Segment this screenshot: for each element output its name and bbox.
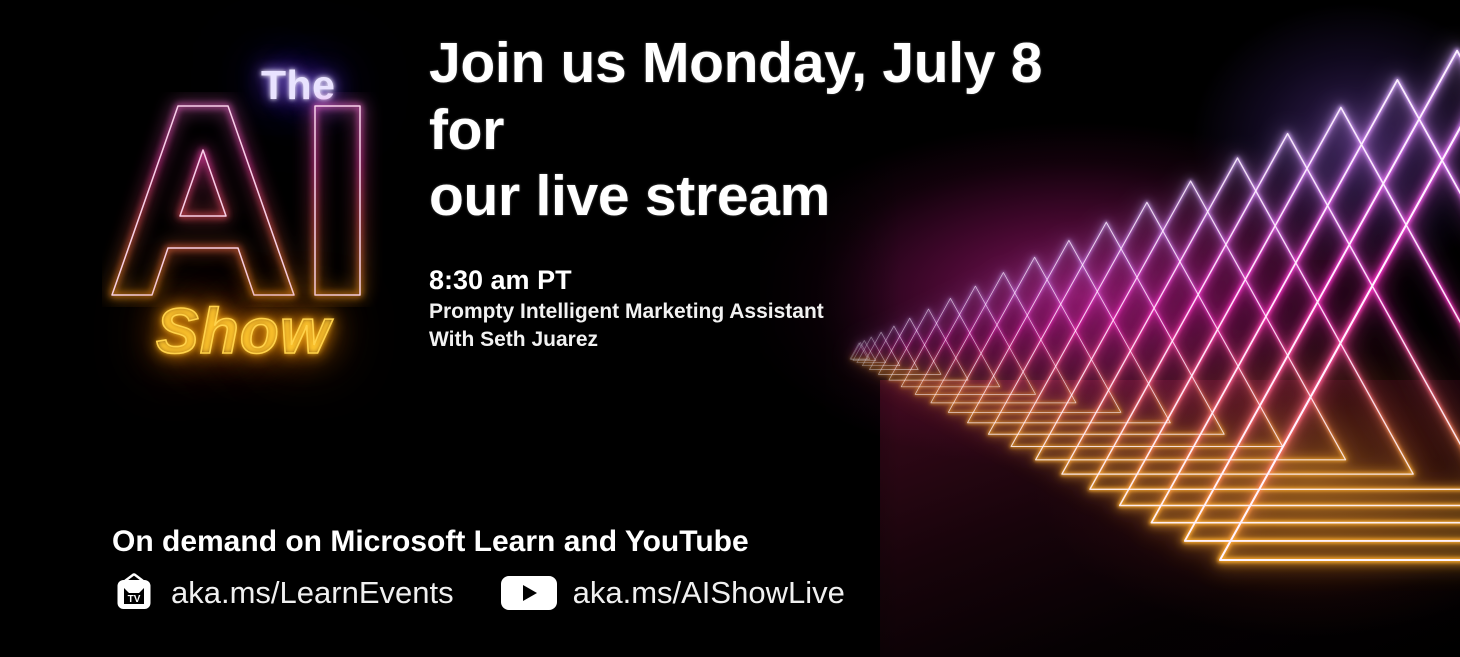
learn-events-url: aka.ms/LearnEvents <box>171 575 454 611</box>
headline-line-2: our live stream <box>429 164 830 228</box>
event-host: With Seth Juarez <box>429 326 1069 355</box>
event-details: 8:30 am PT Prompty Intelligent Marketing… <box>429 264 1069 355</box>
aishowlive-link[interactable]: aka.ms/AIShowLive <box>500 573 845 613</box>
violet-glow <box>1140 0 1460 260</box>
footer-links: TV aka.ms/LearnEvents aka.ms/AIShowLive <box>112 571 845 615</box>
headline-line-1: Join us Monday, July 8 for <box>429 31 1042 162</box>
floor-glow <box>880 380 1460 657</box>
footer-block: On demand on Microsoft Learn and YouTube… <box>112 525 845 615</box>
event-time: 8:30 am PT <box>429 264 1069 298</box>
learn-events-link[interactable]: TV aka.ms/LearnEvents <box>112 571 454 615</box>
tv-icon: TV <box>112 571 156 615</box>
footer-heading: On demand on Microsoft Learn and YouTube <box>112 525 845 559</box>
youtube-icon <box>500 573 558 613</box>
logo-word-ai <box>102 92 392 307</box>
orange-glow <box>1000 330 1460 657</box>
promo-copy-block: Join us Monday, July 8 for our live stre… <box>429 30 1069 355</box>
aishowlive-url: aka.ms/AIShowLive <box>573 575 845 611</box>
ai-show-logo: The <box>96 44 396 394</box>
logo-word-show: Show <box>156 294 331 368</box>
ai-show-promo-banner: The <box>0 0 1460 657</box>
page-title: Join us Monday, July 8 for our live stre… <box>429 30 1069 230</box>
tv-icon-label: TV <box>128 594 141 605</box>
event-title: Prompty Intelligent Marketing Assistant <box>429 298 1069 327</box>
